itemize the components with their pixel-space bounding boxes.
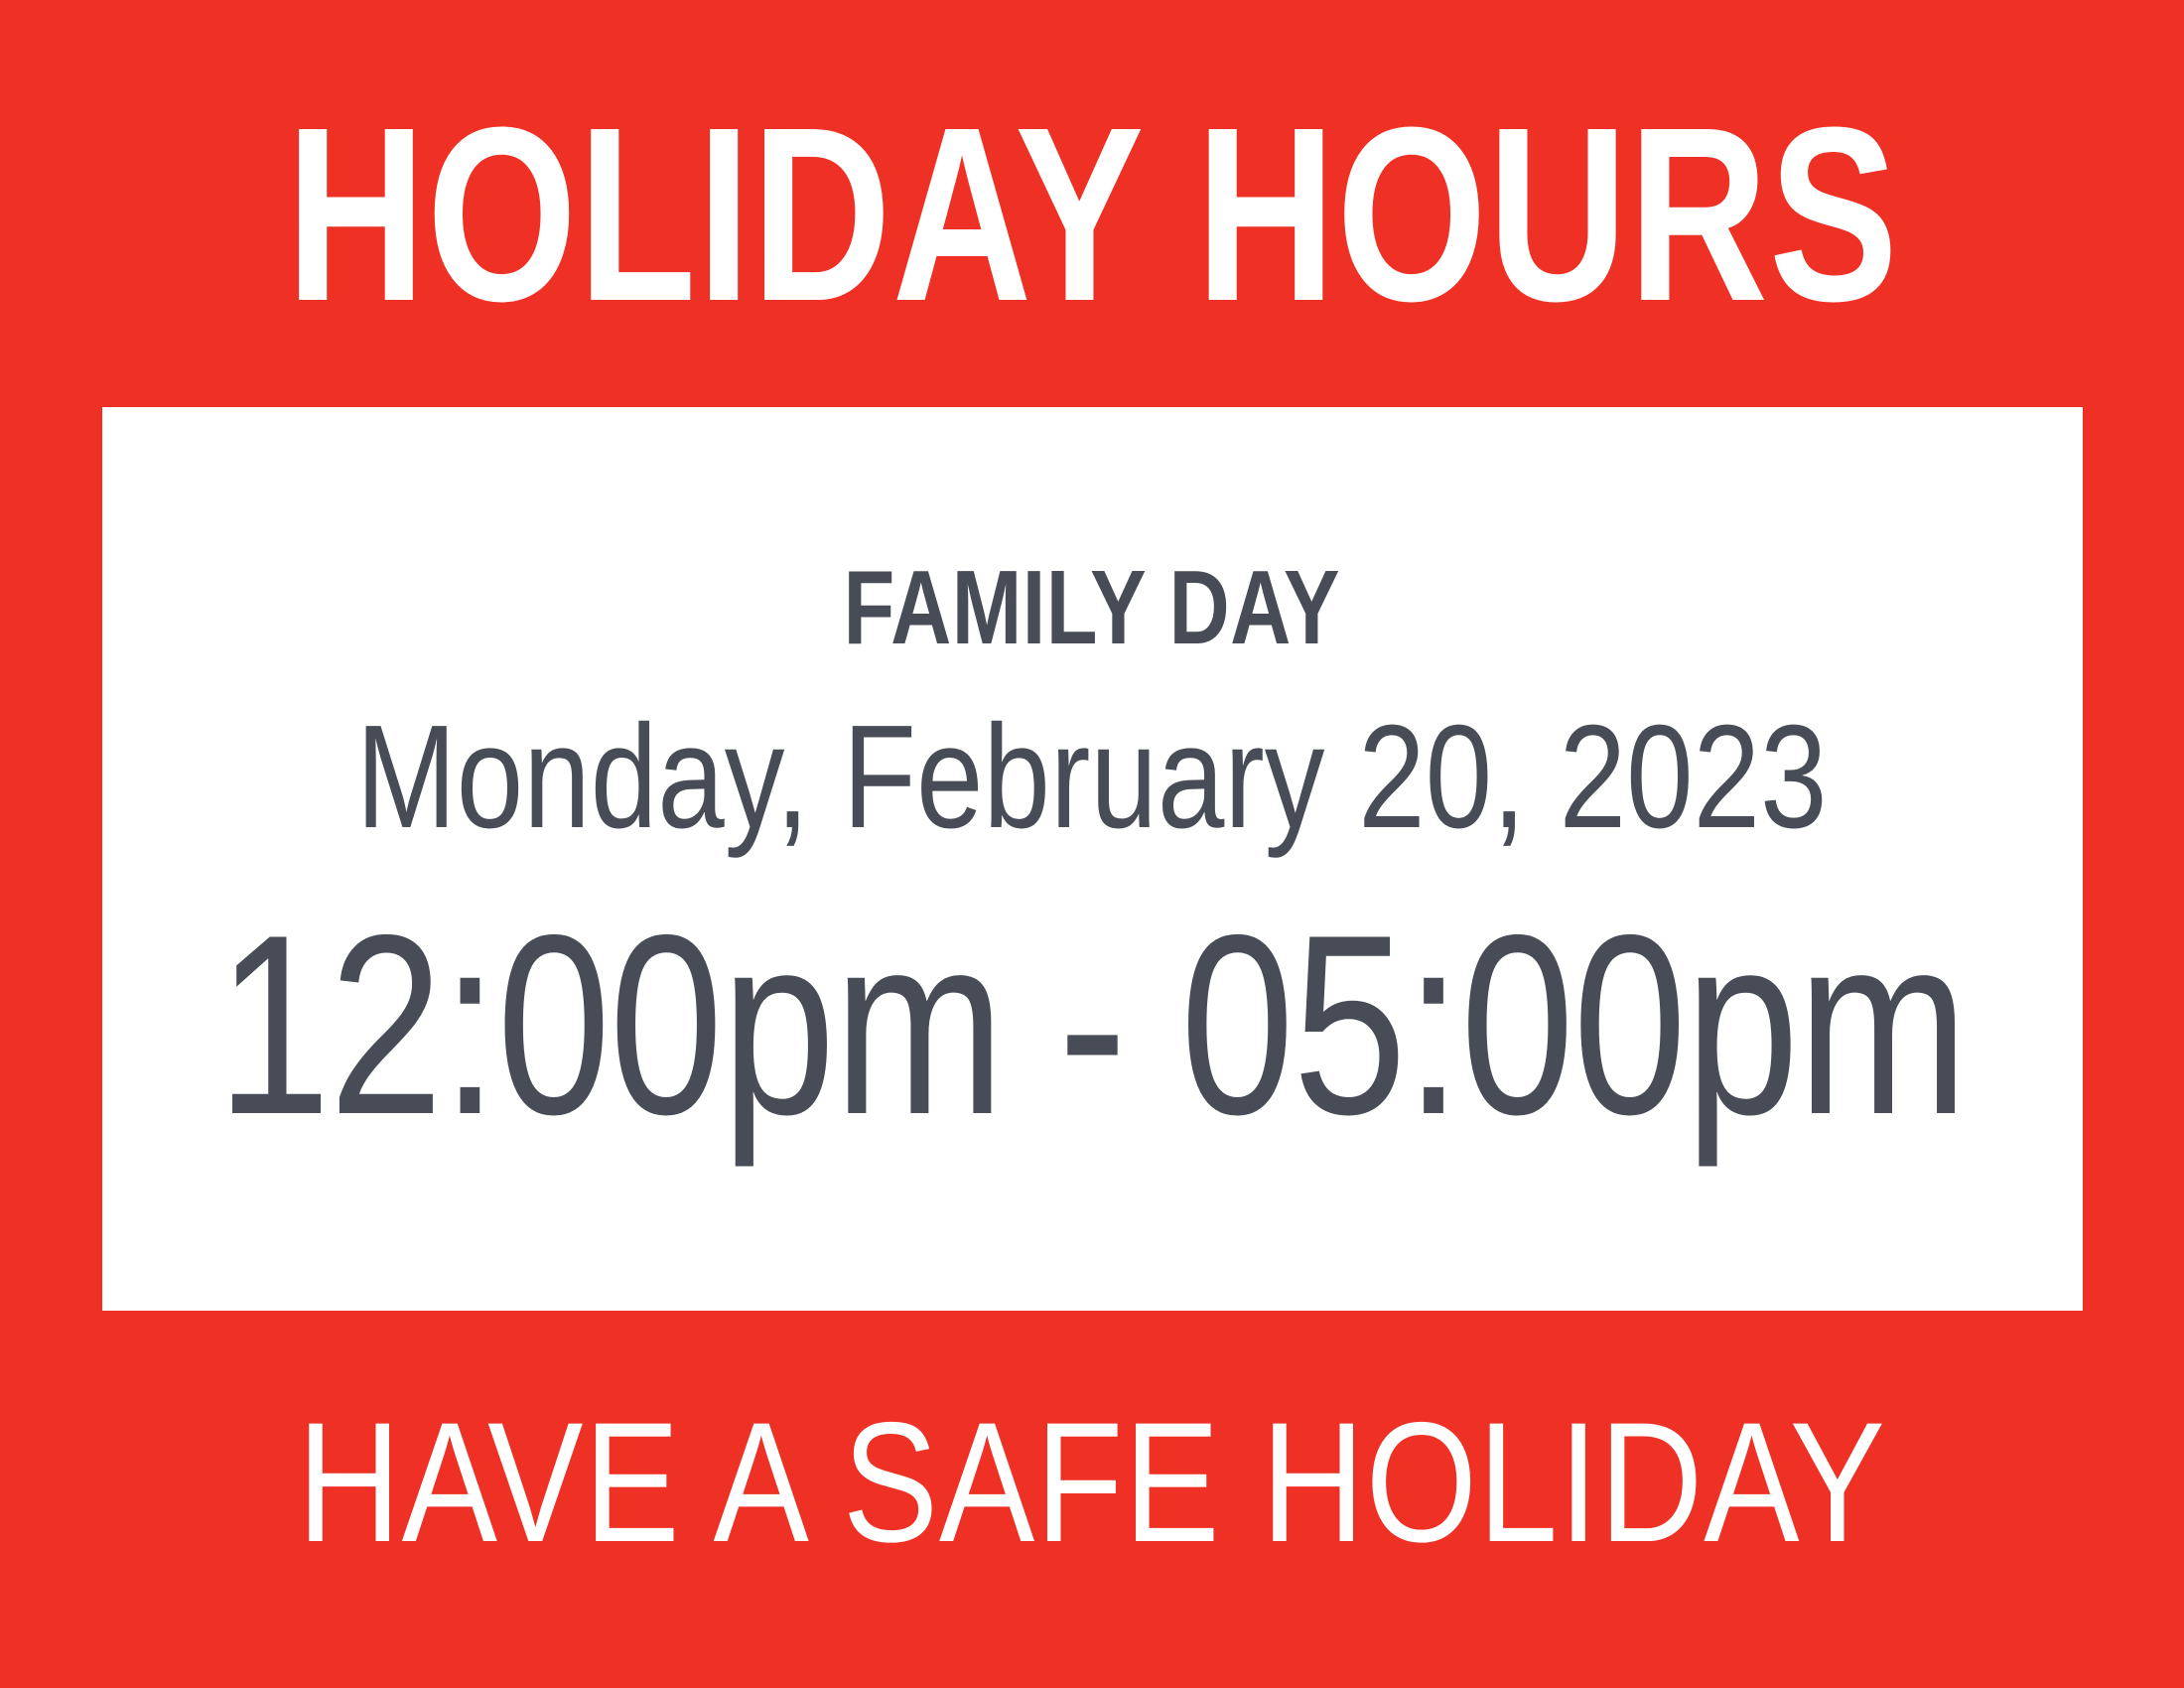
event-hours: 12:00pm - 05:00pm bbox=[217, 897, 1968, 1153]
event-date: Monday, February 20, 2023 bbox=[356, 704, 1828, 851]
footer-message: HAVE A SAFE HOLIDAY bbox=[298, 1397, 1886, 1568]
hours-panel: FAMILY DAY Monday, February 20, 2023 12:… bbox=[102, 407, 2083, 1311]
holiday-hours-sign: HOLIDAY HOURS FAMILY DAY Monday, Februar… bbox=[0, 0, 2184, 1688]
hours-panel-content: FAMILY DAY Monday, February 20, 2023 12:… bbox=[102, 555, 2083, 1153]
event-name: FAMILY DAY bbox=[844, 555, 1340, 660]
headline-banner: HOLIDAY HOURS bbox=[0, 0, 2184, 407]
page-title: HOLIDAY HOURS bbox=[286, 110, 1899, 319]
footer-banner: HAVE A SAFE HOLIDAY bbox=[0, 1311, 2184, 1688]
